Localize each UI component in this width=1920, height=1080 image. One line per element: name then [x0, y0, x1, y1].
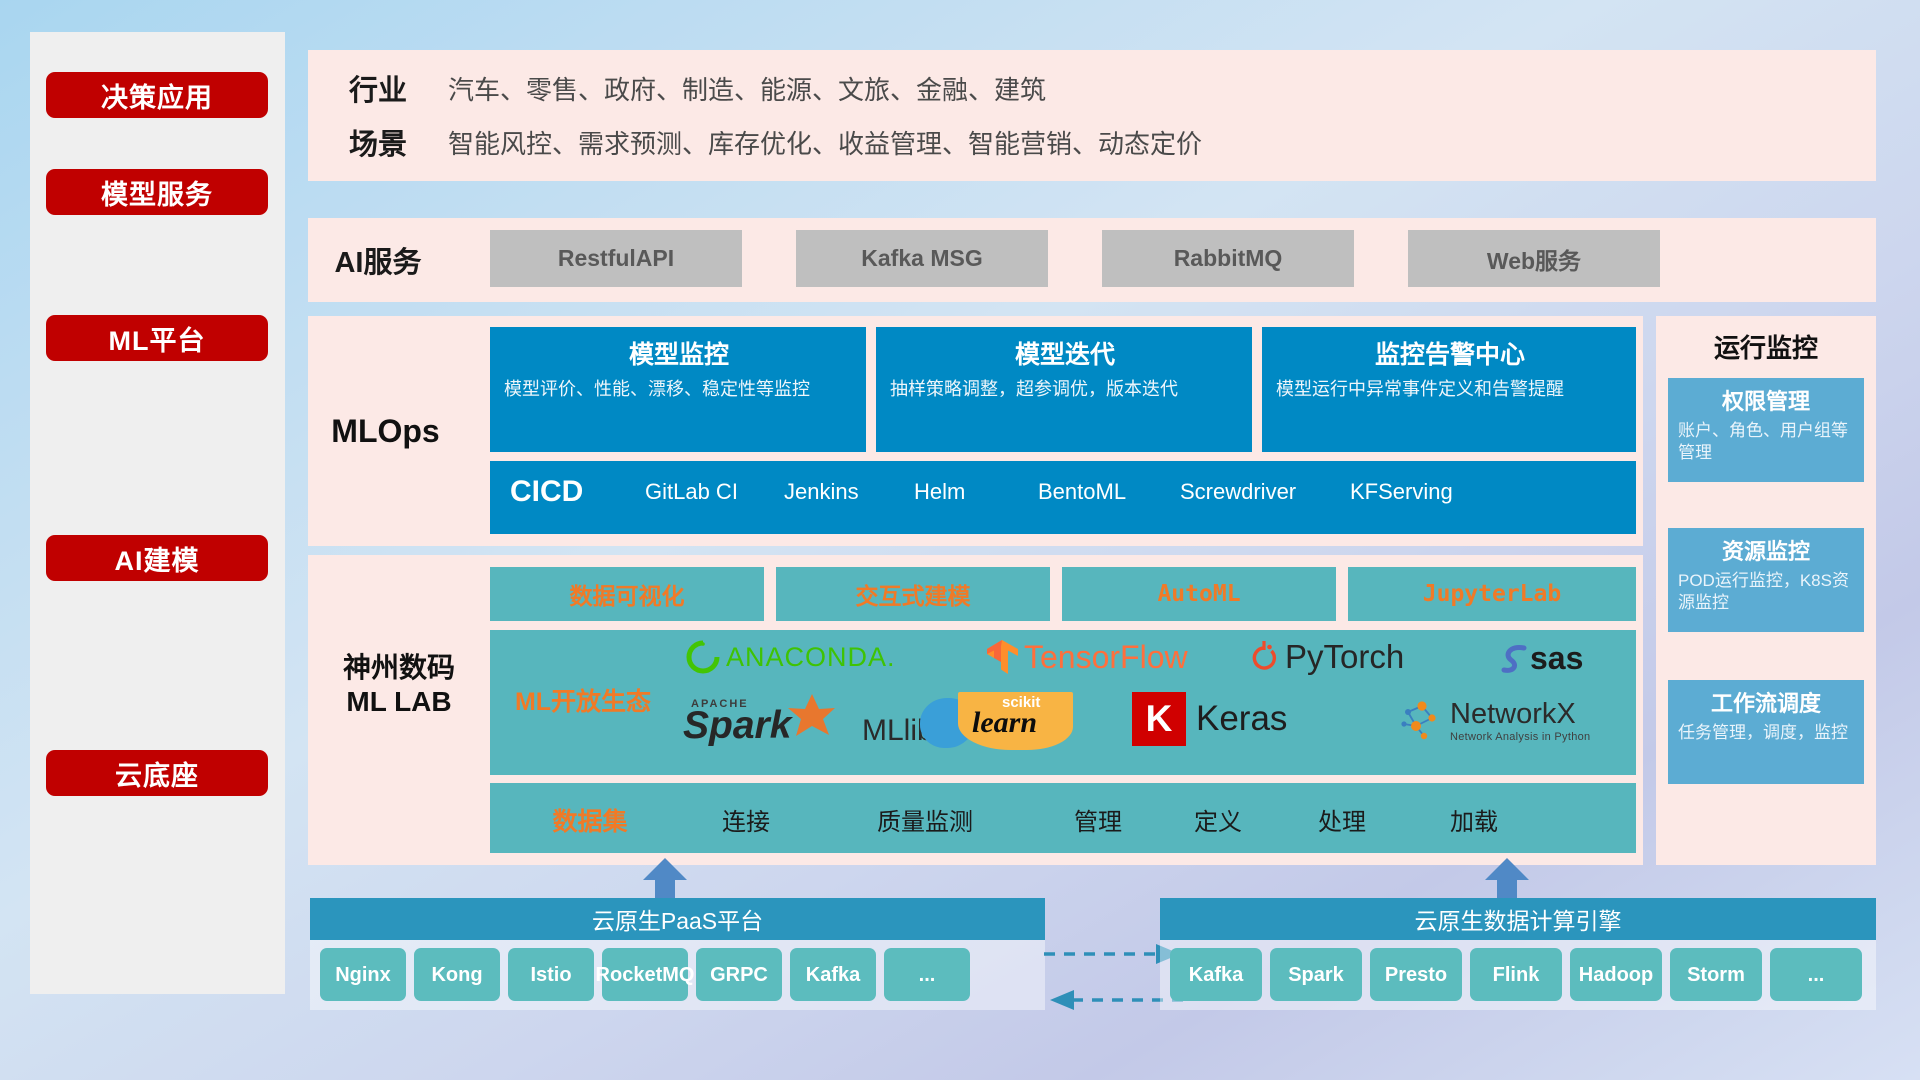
- ai-service-restfulapi[interactable]: RestfulAPI: [490, 230, 742, 287]
- stage-chip-ai-modeling[interactable]: AI建模: [46, 535, 268, 581]
- mlops-card-model-monitoring[interactable]: 模型监控 模型评价、性能、漂移、稳定性等监控: [490, 327, 866, 452]
- spark-logo: APACHE Spark: [675, 696, 855, 752]
- dataset-label: 数据集: [530, 802, 650, 838]
- cicd-item-jenkins[interactable]: Jenkins: [784, 478, 896, 506]
- stage-chip-decision-app[interactable]: 决策应用: [46, 72, 268, 118]
- engine-up-arrow-icon: [1484, 858, 1530, 902]
- anaconda-wordmark: ANACONDA.: [726, 642, 896, 673]
- spark-wordmark: Spark: [683, 704, 791, 748]
- industry-row: 行业 汽车、零售、政府、制造、能源、文旅、金融、建筑: [308, 64, 1046, 112]
- dataset-item-connect[interactable]: 连接: [706, 802, 786, 837]
- keras-mark-icon: K: [1132, 692, 1186, 746]
- networkx-text-block: NetworkX Network Analysis in Python: [1450, 698, 1590, 743]
- mlops-card-alert-center[interactable]: 监控告警中心 模型运行中异常事件定义和告警提醒: [1262, 327, 1636, 452]
- cloud-chip-hadoop[interactable]: Hadoop: [1570, 948, 1662, 1001]
- logo-spark-mllib: APACHE Spark MLlib: [675, 696, 934, 752]
- cicd-item-kfserving[interactable]: KFServing: [1350, 478, 1462, 506]
- mlops-card-model-iteration[interactable]: 模型迭代 抽样策略调整，超参调优，版本迭代: [876, 327, 1252, 452]
- scenario-label: 场景: [308, 121, 448, 163]
- ml-lab-label-line2: ML LAB: [308, 685, 490, 719]
- pytorch-icon: [1250, 640, 1278, 674]
- cicd-bar: CICD GitLab CI Jenkins Helm BentoML Scre…: [490, 461, 1636, 534]
- engine-chip-tray: Kafka Spark Presto Flink Hadoop Storm ..…: [1160, 940, 1876, 1010]
- logo-scikit-learn: scikit learn: [920, 692, 1110, 754]
- stage-label: ML平台: [109, 319, 206, 358]
- ai-service-rabbitmq[interactable]: RabbitMQ: [1102, 230, 1354, 287]
- cloud-chip-rocketmq[interactable]: RocketMQ: [602, 948, 688, 1001]
- stage-label: 云底座: [115, 754, 199, 793]
- cicd-item-screwdriver[interactable]: Screwdriver: [1180, 478, 1292, 506]
- stage-label: 模型服务: [101, 173, 213, 212]
- logo-pytorch: PyTorch: [1250, 638, 1404, 676]
- dataset-band: 数据集 连接 质量监测 管理 定义 处理 加载: [490, 783, 1636, 853]
- card-desc: 抽样策略调整，超参调优，版本迭代: [890, 378, 1240, 402]
- runtime-monitor-title: 运行监控: [1656, 328, 1876, 365]
- ml-lab-label-line1: 神州数码: [308, 651, 490, 685]
- runtime-card-resource-monitoring[interactable]: 资源监控 POD运行监控，K8S资源监控: [1668, 528, 1864, 632]
- pytorch-wordmark: PyTorch: [1285, 638, 1404, 676]
- anaconda-icon: [686, 640, 720, 674]
- industry-label: 行业: [308, 67, 448, 109]
- ml-ecosystem-band: ML开放生态 ANACONDA. TensorFlow: [490, 630, 1636, 775]
- ai-service-kafka-msg[interactable]: Kafka MSG: [796, 230, 1048, 287]
- scenario-values: 智能风控、需求预测、库存优化、收益管理、智能营销、动态定价: [448, 124, 1202, 161]
- card-desc: 模型运行中异常事件定义和告警提醒: [1276, 378, 1624, 402]
- runtime-card-workflow-scheduling[interactable]: 工作流调度 任务管理，调度，监控: [1668, 680, 1864, 784]
- model-service-panel: AI服务 RestfulAPI Kafka MSG RabbitMQ Web服务: [308, 218, 1876, 302]
- cloud-chip-istio[interactable]: Istio: [508, 948, 594, 1001]
- runtime-card-permission-management[interactable]: 权限管理 账户、角色、用户组等管理: [1668, 378, 1864, 482]
- tool-chip-data-visualization[interactable]: 数据可视化: [490, 567, 764, 621]
- stage-chip-ml-platform[interactable]: ML平台: [46, 315, 268, 361]
- mlops-panel: MLOps 模型监控 模型评价、性能、漂移、稳定性等监控 模型迭代 抽样策略调整…: [308, 316, 1643, 546]
- paas-up-arrow-icon: [642, 858, 688, 902]
- ml-lab-panel: 神州数码 ML LAB 数据可视化 交互式建模 AutoML JupyterLa…: [308, 555, 1643, 865]
- cloud-engine-group: 云原生数据计算引擎 Kafka Spark Presto Flink Hadoo…: [1160, 858, 1876, 1018]
- card-desc: 任务管理，调度，监控: [1678, 722, 1854, 744]
- card-title: 资源监控: [1678, 534, 1854, 566]
- engine-title: 云原生数据计算引擎: [1160, 898, 1876, 940]
- keras-mark-letter: K: [1146, 698, 1173, 740]
- networkx-wordmark: NetworkX: [1450, 698, 1590, 731]
- logo-anaconda: ANACONDA.: [686, 640, 896, 674]
- cloud-chip-kong[interactable]: Kong: [414, 948, 500, 1001]
- ai-service-web[interactable]: Web服务: [1408, 230, 1660, 287]
- cloud-chip-nginx[interactable]: Nginx: [320, 948, 406, 1001]
- ai-service-label: AI服务: [308, 218, 448, 302]
- industry-values: 汽车、零售、政府、制造、能源、文旅、金融、建筑: [448, 70, 1046, 107]
- runtime-monitor-panel: 运行监控 权限管理 账户、角色、用户组等管理 资源监控 POD运行监控，K8S资…: [1656, 316, 1876, 865]
- cicd-item-bentoml[interactable]: BentoML: [1038, 478, 1150, 506]
- tool-chip-automl[interactable]: AutoML: [1062, 567, 1336, 621]
- tool-chip-interactive-modeling[interactable]: 交互式建模: [776, 567, 1050, 621]
- cloud-chip-grpc[interactable]: GRPC: [696, 948, 782, 1001]
- cloud-chip-more[interactable]: ...: [1770, 948, 1862, 1001]
- stage-label: 决策应用: [101, 76, 213, 115]
- ml-ecosystem-label: ML开放生态: [508, 682, 658, 718]
- scikit-learn-wordmark: learn: [972, 706, 1037, 740]
- tool-chip-jupyterlab[interactable]: JupyterLab: [1348, 567, 1636, 621]
- stage-chip-cloud-base[interactable]: 云底座: [46, 750, 268, 796]
- tensorflow-icon: [984, 638, 1020, 676]
- networkx-icon: [1398, 696, 1446, 744]
- logo-keras: K Keras: [1132, 692, 1287, 746]
- dataset-item-quality[interactable]: 质量监测: [860, 802, 990, 837]
- logo-sas: sas: [1500, 640, 1583, 677]
- mlops-label: MLOps: [308, 316, 463, 546]
- spark-star-icon: [785, 692, 837, 738]
- ai-service-label-text: Kafka MSG: [861, 245, 982, 272]
- cloud-chip-storm[interactable]: Storm: [1670, 948, 1762, 1001]
- tensorflow-wordmark: TensorFlow: [1024, 639, 1188, 676]
- ai-service-label-text: Web服务: [1487, 242, 1581, 276]
- paas-title: 云原生PaaS平台: [310, 898, 1045, 940]
- dataset-item-define[interactable]: 定义: [1178, 802, 1258, 837]
- decision-application-panel: 行业 汽车、零售、政府、制造、能源、文旅、金融、建筑 场景 智能风控、需求预测、…: [308, 50, 1876, 181]
- stage-label: AI建模: [115, 539, 200, 578]
- cicd-item-helm[interactable]: Helm: [914, 478, 1026, 506]
- stage-label-column: 决策应用 模型服务 ML平台 AI建模 云底座: [30, 32, 285, 994]
- card-desc: 账户、角色、用户组等管理: [1678, 420, 1854, 464]
- sas-icon: [1500, 643, 1534, 675]
- cloud-paas-group: 云原生PaaS平台 Nginx Kong Istio RocketMQ GRPC…: [310, 858, 1045, 1018]
- cloud-chip-kafka[interactable]: Kafka: [1170, 948, 1262, 1001]
- cloud-chip-presto[interactable]: Presto: [1370, 948, 1462, 1001]
- cicd-title: CICD: [510, 475, 583, 509]
- dataset-item-load[interactable]: 加载: [1434, 802, 1514, 837]
- scenario-row: 场景 智能风控、需求预测、库存优化、收益管理、智能营销、动态定价: [308, 118, 1202, 166]
- dataset-item-manage[interactable]: 管理: [1058, 802, 1138, 837]
- card-title: 工作流调度: [1678, 686, 1854, 718]
- dataset-item-process[interactable]: 处理: [1302, 802, 1382, 837]
- paas-chip-tray: Nginx Kong Istio RocketMQ GRPC Kafka ...: [310, 940, 1045, 1010]
- cicd-item-gitlab-ci[interactable]: GitLab CI: [645, 478, 757, 506]
- ai-service-label-text: RabbitMQ: [1174, 245, 1283, 272]
- card-title: 权限管理: [1678, 384, 1854, 416]
- ml-lab-label: 神州数码 ML LAB: [308, 651, 490, 719]
- keras-wordmark: Keras: [1196, 699, 1287, 739]
- card-title: 模型监控: [504, 335, 854, 371]
- logo-tensorflow: TensorFlow: [984, 638, 1188, 676]
- ai-service-label-text: RestfulAPI: [558, 245, 674, 272]
- stage-chip-model-service[interactable]: 模型服务: [46, 169, 268, 215]
- cloud-chip-kafka[interactable]: Kafka: [790, 948, 876, 1001]
- card-title: 模型迭代: [890, 335, 1240, 371]
- cloud-chip-flink[interactable]: Flink: [1470, 948, 1562, 1001]
- sas-wordmark: sas: [1530, 640, 1583, 677]
- card-desc: POD运行监控，K8S资源监控: [1678, 570, 1854, 614]
- cloud-chip-spark[interactable]: Spark: [1270, 948, 1362, 1001]
- logo-networkx: NetworkX Network Analysis in Python: [1398, 696, 1590, 744]
- card-desc: 模型评价、性能、漂移、稳定性等监控: [504, 378, 854, 402]
- networkx-tagline: Network Analysis in Python: [1450, 731, 1590, 743]
- cloud-chip-more[interactable]: ...: [884, 948, 970, 1001]
- card-title: 监控告警中心: [1276, 335, 1624, 371]
